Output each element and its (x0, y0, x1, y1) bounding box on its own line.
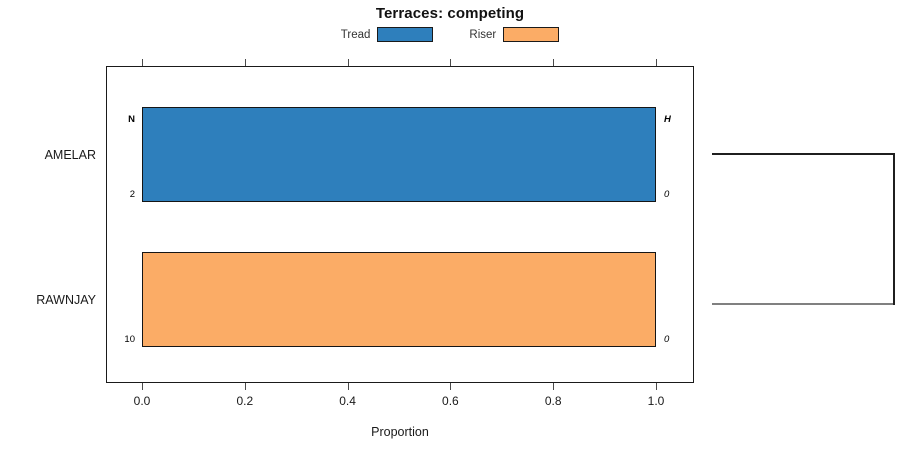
dendrogram-join-stem (893, 153, 895, 305)
dendrogram-top-branch (712, 153, 893, 155)
dendrogram-bottom-branch (712, 303, 893, 305)
dendrogram-bracket (0, 0, 900, 460)
